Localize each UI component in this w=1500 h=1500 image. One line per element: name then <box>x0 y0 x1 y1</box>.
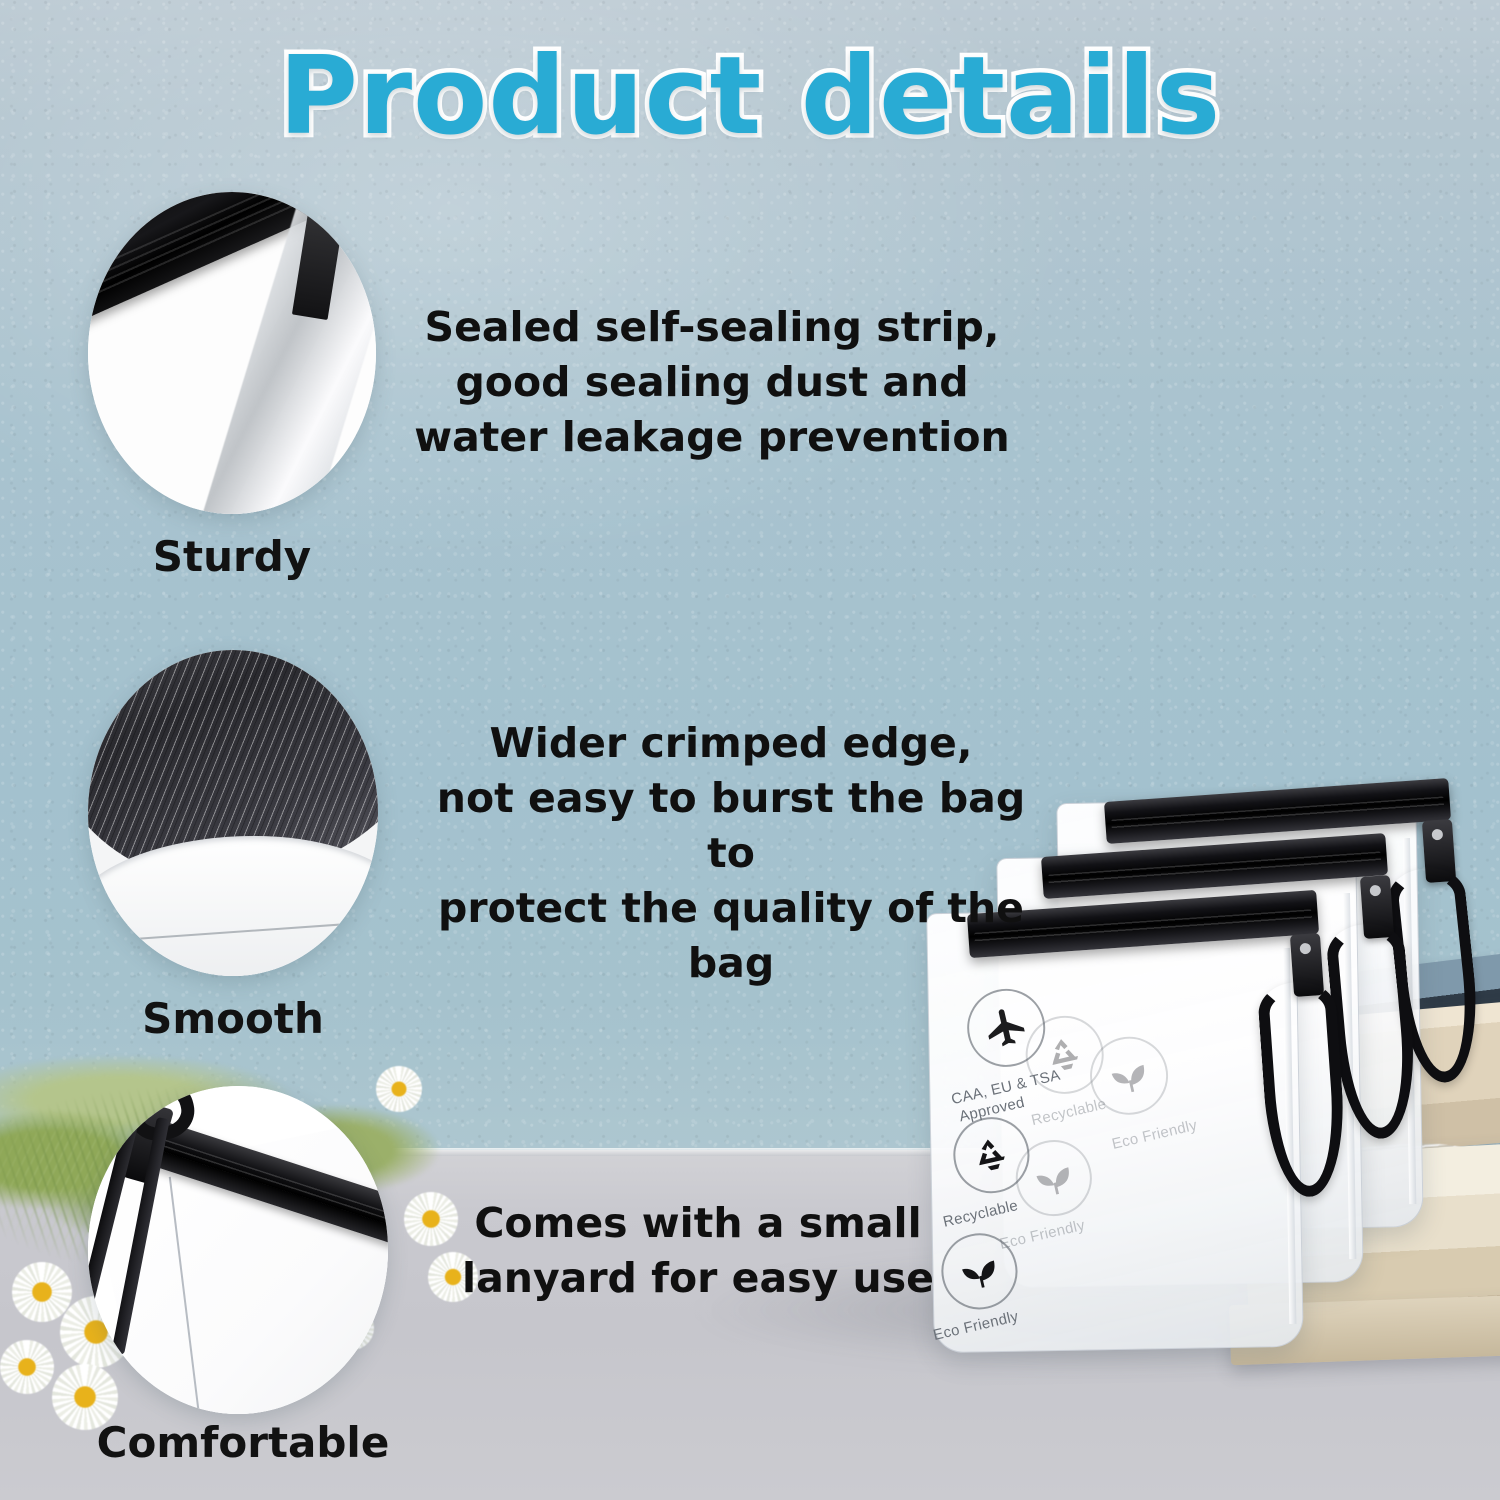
feature-blurb-line: lanyard for easy use <box>438 1251 958 1306</box>
page-title: Product details <box>0 34 1500 159</box>
feature-blurb-sturdy: Sealed self-sealing strip, good sealing … <box>412 300 1012 465</box>
feature-blurb-line: not easy to burst the bag to <box>408 771 1054 881</box>
lanyard-corner-macro-icon <box>88 1086 388 1414</box>
feature-caption-sturdy: Sturdy <box>88 532 376 581</box>
feature-blurb-line: good sealing dust and <box>412 355 1012 410</box>
feature-caption-smooth: Smooth <box>88 994 378 1043</box>
daisy-flower <box>12 1262 72 1322</box>
crimped-edge-macro-icon <box>88 650 378 976</box>
feature-blurb-smooth: Wider crimped edge, not easy to burst th… <box>408 716 1054 991</box>
feature-blurb-line: protect the quality of the bag <box>408 881 1054 991</box>
badge-label-recycle-row1: Recyclable <box>1030 1095 1108 1129</box>
badge-label-eco-row3: Eco Friendly <box>932 1308 1021 1344</box>
daisy-flower <box>0 1340 54 1394</box>
feature-blurb-line: water leakage prevention <box>412 410 1012 465</box>
badge-label-eco-row1: Eco Friendly <box>1110 1117 1199 1153</box>
feature-blurb-line: Sealed self-sealing strip, <box>412 300 1012 355</box>
feature-blurb-comfortable: Comes with a small lanyard for easy use <box>438 1196 958 1306</box>
product-details-infographic: Product details <box>0 0 1500 1500</box>
badge-label-eco-row2: Eco Friendly <box>998 1217 1087 1253</box>
feature-caption-comfortable: Comfortable <box>78 1418 408 1467</box>
feature-blurb-line: Wider crimped edge, <box>408 716 1054 771</box>
feature-blurb-line: Comes with a small <box>438 1196 958 1251</box>
zipper-seal-macro-icon <box>88 192 376 514</box>
